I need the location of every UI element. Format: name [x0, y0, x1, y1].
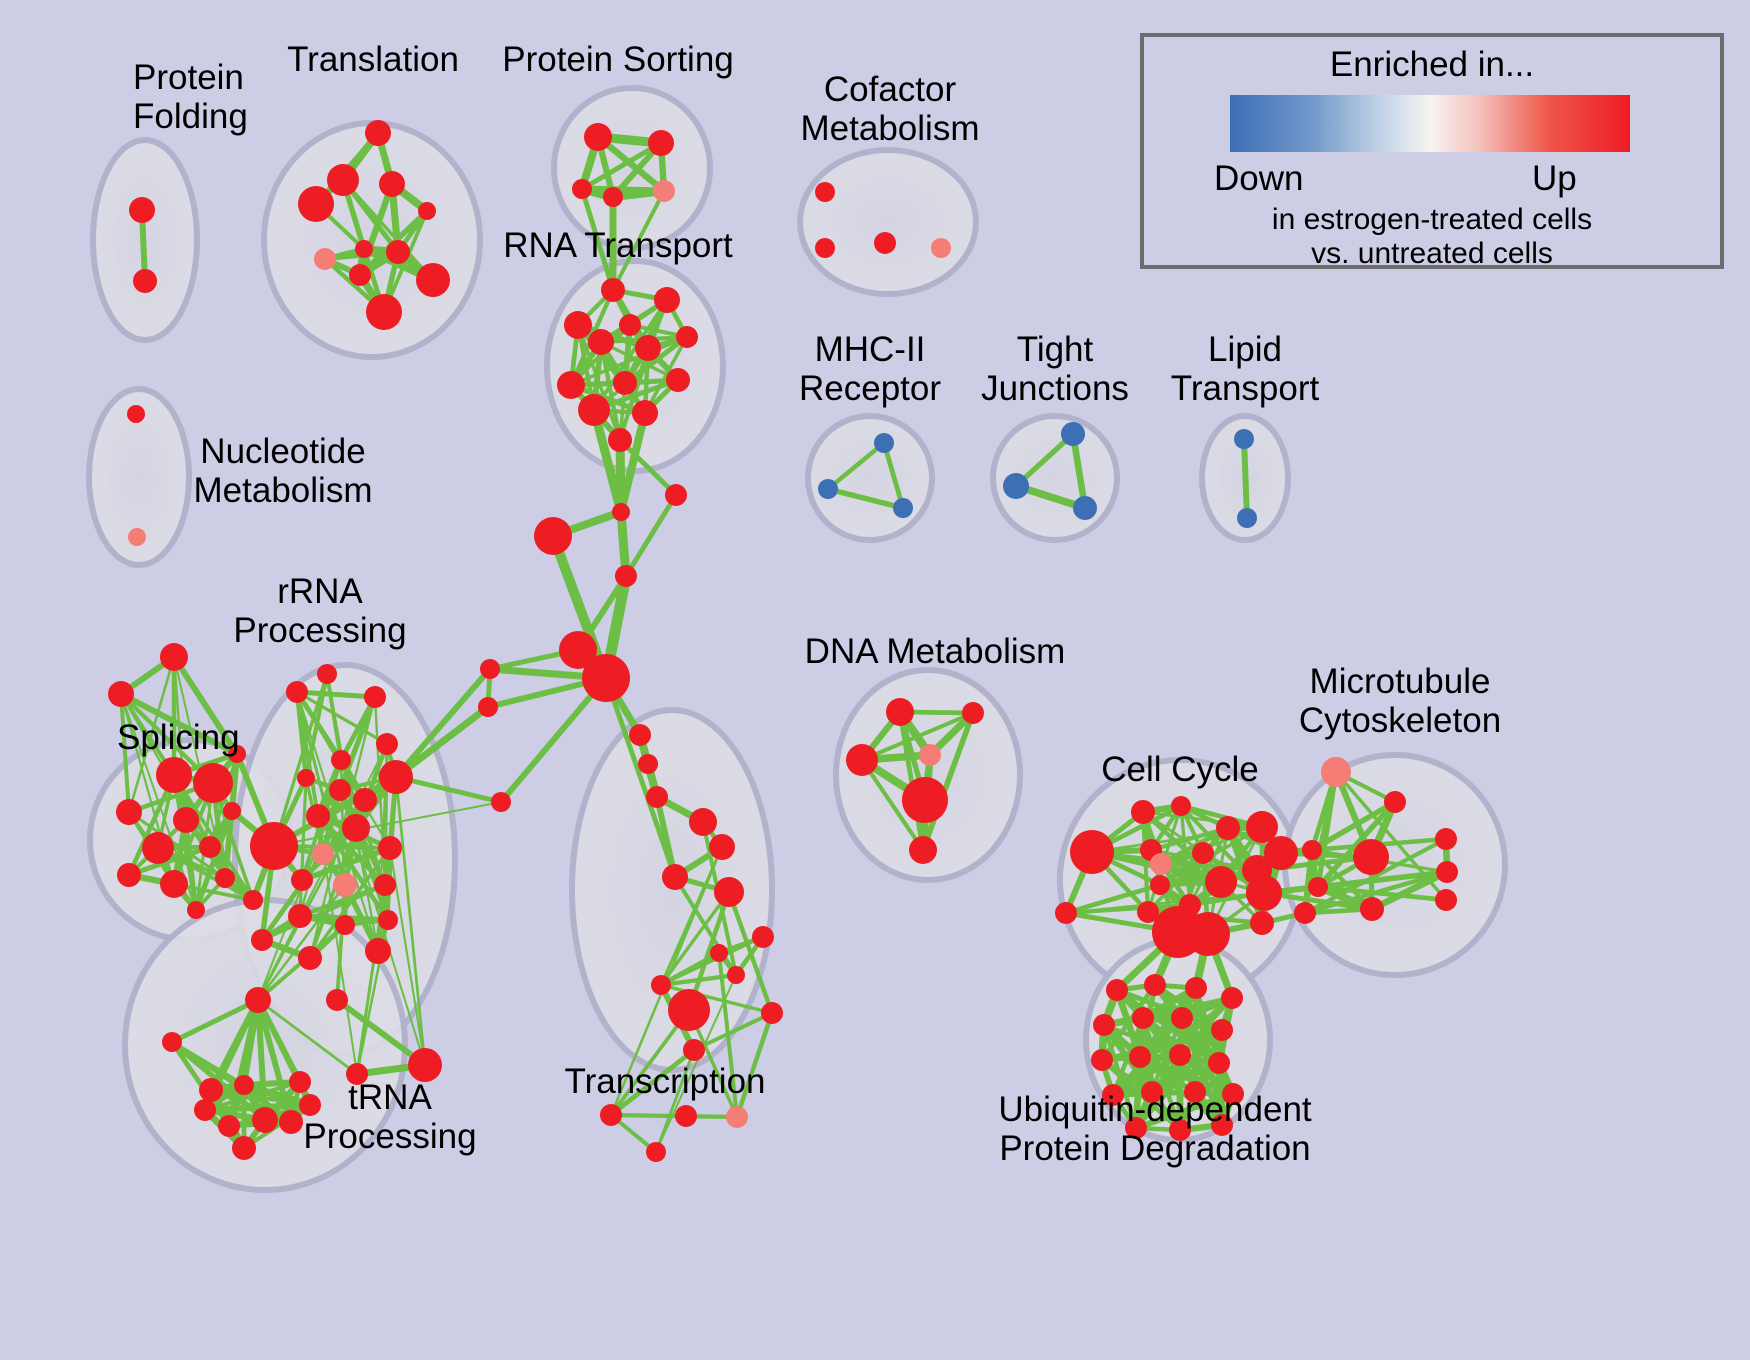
legend-low-label: Down	[1214, 159, 1303, 199]
gene-set-node-translation[interactable]	[366, 294, 402, 330]
gene-set-node-bridge[interactable]	[534, 517, 572, 555]
gene-set-node-splicing[interactable]	[173, 807, 199, 833]
gene-set-node-translation[interactable]	[298, 186, 334, 222]
cluster-label-ubiquitin-degradation: Ubiquitin-dependentProtein Degradation	[998, 1090, 1311, 1168]
gene-set-node-rrna-processing[interactable]	[250, 822, 298, 870]
gene-set-node-microtubule-cytoskeleton[interactable]	[1321, 757, 1351, 787]
gene-set-node-rrna-processing[interactable]	[329, 779, 351, 801]
gene-set-node-rrna-processing[interactable]	[317, 664, 337, 684]
gene-set-node-rna-transport[interactable]	[578, 394, 610, 426]
gene-set-node-microtubule-cytoskeleton[interactable]	[1302, 840, 1322, 860]
cluster-label-cofactor-metabolism: CofactorMetabolism	[801, 70, 980, 148]
gene-set-node-rrna-processing[interactable]	[326, 989, 348, 1011]
gene-set-node-mhc-ii-receptor[interactable]	[874, 433, 894, 453]
gene-set-node-protein-sorting[interactable]	[572, 179, 592, 199]
gene-set-node-ubiquitin-degradation[interactable]	[1169, 1044, 1191, 1066]
gene-set-node-bridge[interactable]	[615, 565, 637, 587]
gene-set-node-ubiquitin-degradation[interactable]	[1208, 1052, 1230, 1074]
gene-set-node-ubiquitin-degradation[interactable]	[1106, 979, 1128, 1001]
gene-set-node-cell-cycle[interactable]	[1192, 842, 1214, 864]
gene-set-node-protein-sorting[interactable]	[584, 123, 612, 151]
gene-set-node-translation[interactable]	[314, 248, 336, 270]
cluster-label-line: Ubiquitin-dependent	[998, 1090, 1311, 1129]
legend-subtitle-line1: in estrogen-treated cells	[1144, 203, 1720, 237]
gene-set-node-ubiquitin-degradation[interactable]	[1171, 1007, 1193, 1029]
gene-set-node-translation[interactable]	[386, 240, 410, 264]
cluster-label-line: Metabolism	[801, 109, 980, 148]
gene-set-node-transcription[interactable]	[714, 877, 744, 907]
cluster-edge-lipid-transport	[1244, 439, 1247, 518]
cluster-label-protein-folding: ProteinFolding	[133, 58, 248, 136]
gene-set-node-splicing[interactable]	[116, 799, 142, 825]
cluster-label-line: rRNA	[233, 572, 406, 611]
gene-set-node-dna-metabolism[interactable]	[886, 698, 914, 726]
gene-set-node-mhc-ii-receptor[interactable]	[893, 498, 913, 518]
gene-set-node-cell-cycle[interactable]	[1150, 875, 1170, 895]
cluster-label-nucleotide-metabolism: NucleotideMetabolism	[194, 432, 373, 510]
gene-set-node-bridge[interactable]	[491, 792, 511, 812]
gene-set-node-rna-transport[interactable]	[619, 314, 641, 336]
gene-set-node-rrna-processing[interactable]	[379, 760, 413, 794]
cluster-label-line: Translation	[287, 40, 459, 79]
gene-set-node-trna-processing[interactable]	[279, 1110, 303, 1134]
cluster-edge-transcription	[611, 1115, 737, 1117]
gene-set-node-translation[interactable]	[418, 202, 436, 220]
gene-set-node-transcription[interactable]	[662, 864, 688, 890]
cluster-label-lipid-transport: LipidTransport	[1171, 330, 1319, 408]
gene-set-node-lipid-transport[interactable]	[1237, 508, 1257, 528]
gene-set-node-transcription[interactable]	[675, 1105, 697, 1127]
cluster-label-cell-cycle: Cell Cycle	[1101, 750, 1259, 789]
gene-set-node-rrna-processing[interactable]	[331, 750, 351, 770]
gene-set-node-bridge[interactable]	[612, 503, 630, 521]
gene-set-node-rrna-processing[interactable]	[298, 946, 322, 970]
gene-set-node-ubiquitin-degradation[interactable]	[1185, 977, 1207, 999]
gene-set-node-microtubule-cytoskeleton[interactable]	[1353, 839, 1389, 875]
legend-high-label: Up	[1532, 159, 1577, 199]
gene-set-node-splicing[interactable]	[160, 870, 188, 898]
gene-set-node-protein-sorting[interactable]	[603, 187, 623, 207]
cluster-label-line: DNA Metabolism	[805, 632, 1066, 671]
gene-set-node-cell-cycle[interactable]	[1171, 796, 1191, 816]
gene-set-node-cofactor-metabolism[interactable]	[931, 238, 951, 258]
gene-set-node-cell-cycle[interactable]	[1246, 875, 1282, 911]
gene-set-node-ubiquitin-degradation[interactable]	[1221, 987, 1243, 1009]
gene-set-node-translation[interactable]	[365, 120, 391, 146]
gene-set-node-rna-transport[interactable]	[564, 311, 592, 339]
gene-set-node-protein-sorting[interactable]	[648, 130, 674, 156]
gene-set-node-tight-junctions[interactable]	[1061, 422, 1085, 446]
gene-set-node-rna-transport[interactable]	[676, 326, 698, 348]
gene-set-node-transcription[interactable]	[709, 834, 735, 860]
legend-box: Enriched in... Down Up in estrogen-treat…	[1140, 33, 1724, 269]
gene-set-node-rrna-processing[interactable]	[306, 804, 330, 828]
cluster-label-dna-metabolism: DNA Metabolism	[805, 632, 1066, 671]
enrichment-map-figure: ProteinFoldingTranslationProtein Sorting…	[0, 0, 1750, 1360]
cluster-ellipse-mhc-ii-receptor	[808, 416, 932, 540]
cluster-ellipse-cofactor-metabolism	[800, 150, 976, 294]
gene-set-node-transcription[interactable]	[651, 975, 671, 995]
cluster-label-line: RNA Transport	[503, 226, 733, 265]
gene-set-node-rna-transport[interactable]	[666, 368, 690, 392]
gene-set-node-cell-cycle[interactable]	[1070, 830, 1114, 874]
cluster-label-transcription: Transcription	[565, 1062, 766, 1101]
gene-set-node-bridge[interactable]	[478, 697, 498, 717]
gene-set-node-rrna-processing[interactable]	[335, 915, 355, 935]
gene-set-node-splicing[interactable]	[117, 863, 141, 887]
gene-set-node-rrna-processing[interactable]	[297, 769, 315, 787]
cluster-label-line: Protein	[133, 58, 248, 97]
cluster-label-line: Cytoskeleton	[1299, 701, 1501, 740]
cluster-label-protein-sorting: Protein Sorting	[502, 40, 734, 79]
gene-set-node-ubiquitin-degradation[interactable]	[1129, 1046, 1151, 1068]
gene-set-node-rna-transport[interactable]	[608, 428, 632, 452]
cluster-label-line: MHC-II	[799, 330, 941, 369]
gene-set-node-transcription[interactable]	[752, 926, 774, 948]
cluster-label-line: Protein Degradation	[998, 1129, 1311, 1168]
gene-set-node-bridge[interactable]	[629, 724, 651, 746]
gene-set-node-transcription[interactable]	[689, 808, 717, 836]
gene-set-node-protein-sorting[interactable]	[653, 180, 675, 202]
gene-set-node-trna-processing[interactable]	[234, 1075, 254, 1095]
gene-set-node-cell-cycle[interactable]	[1216, 816, 1240, 840]
gene-set-node-trna-processing[interactable]	[252, 1107, 278, 1133]
gene-set-node-trna-processing[interactable]	[232, 1136, 256, 1160]
cluster-label-line: tRNA	[303, 1078, 476, 1117]
gene-set-node-cell-cycle[interactable]	[1186, 912, 1230, 956]
gene-set-node-microtubule-cytoskeleton[interactable]	[1294, 902, 1316, 924]
gene-set-node-transcription[interactable]	[600, 1104, 622, 1126]
legend-subtitle-line2: vs. untreated cells	[1144, 237, 1720, 271]
cluster-label-line: Processing	[303, 1117, 476, 1156]
gene-set-node-mhc-ii-receptor[interactable]	[818, 479, 838, 499]
gene-set-node-dna-metabolism[interactable]	[962, 702, 984, 724]
gene-set-node-cell-cycle[interactable]	[1205, 866, 1237, 898]
gene-set-node-cofactor-metabolism[interactable]	[874, 232, 896, 254]
gene-set-node-rna-transport[interactable]	[588, 329, 614, 355]
gene-set-node-rrna-processing[interactable]	[286, 681, 308, 703]
gene-set-node-microtubule-cytoskeleton[interactable]	[1436, 861, 1458, 883]
gene-set-node-translation[interactable]	[379, 171, 405, 197]
cluster-label-line: Transport	[1171, 369, 1319, 408]
gene-set-node-rrna-processing[interactable]	[353, 788, 377, 812]
gene-set-node-microtubule-cytoskeleton[interactable]	[1435, 828, 1457, 850]
gene-set-node-bridge[interactable]	[665, 484, 687, 506]
gene-set-node-microtubule-cytoskeleton[interactable]	[1435, 889, 1457, 911]
gene-set-node-rna-transport[interactable]	[632, 400, 658, 426]
gene-set-node-rrna-processing[interactable]	[376, 733, 398, 755]
gene-set-node-rna-transport[interactable]	[601, 278, 625, 302]
cluster-label-line: Metabolism	[194, 471, 373, 510]
cluster-label-line: Transcription	[565, 1062, 766, 1101]
cluster-label-translation: Translation	[287, 40, 459, 79]
cluster-label-line: Junctions	[981, 369, 1129, 408]
gene-set-node-bridge[interactable]	[582, 654, 630, 702]
gene-set-node-splicing[interactable]	[142, 832, 174, 864]
cluster-label-tight-junctions: TightJunctions	[981, 330, 1129, 408]
gene-set-node-rrna-processing[interactable]	[378, 836, 402, 860]
gene-set-node-transcription[interactable]	[710, 944, 728, 962]
legend-color-gradient-bar	[1230, 95, 1630, 152]
gene-set-node-rrna-processing[interactable]	[245, 987, 271, 1013]
gene-set-node-cofactor-metabolism[interactable]	[815, 182, 835, 202]
gene-set-node-dna-metabolism[interactable]	[902, 777, 948, 823]
gene-set-node-splicing[interactable]	[187, 901, 205, 919]
gene-set-node-bridge[interactable]	[638, 754, 658, 774]
gene-set-node-rrna-processing[interactable]	[291, 869, 313, 891]
gene-set-node-microtubule-cytoskeleton[interactable]	[1308, 877, 1328, 897]
gene-set-node-trna-processing[interactable]	[162, 1032, 182, 1052]
gene-set-node-ubiquitin-degradation[interactable]	[1132, 1007, 1154, 1029]
gene-set-node-splicing[interactable]	[199, 836, 221, 858]
gene-set-node-cell-cycle[interactable]	[1150, 853, 1172, 875]
gene-set-node-rrna-processing[interactable]	[378, 910, 398, 930]
gene-set-node-transcription[interactable]	[726, 1106, 748, 1128]
gene-set-node-splicing[interactable]	[223, 802, 241, 820]
gene-set-node-tight-junctions[interactable]	[1003, 473, 1029, 499]
cluster-label-microtubule-cytoskeleton: MicrotubuleCytoskeleton	[1299, 662, 1501, 740]
gene-set-node-splicing[interactable]	[215, 868, 235, 888]
gene-set-node-rrna-processing[interactable]	[364, 686, 386, 708]
gene-set-node-bridge[interactable]	[646, 786, 668, 808]
cluster-label-line: Microtubule	[1299, 662, 1501, 701]
gene-set-node-splicing[interactable]	[156, 757, 192, 793]
gene-set-node-cell-cycle[interactable]	[1250, 911, 1274, 935]
gene-set-node-bridge[interactable]	[480, 659, 500, 679]
gene-set-node-rrna-processing[interactable]	[288, 904, 312, 928]
cluster-label-line: Processing	[233, 611, 406, 650]
gene-set-node-transcription[interactable]	[761, 1002, 783, 1024]
cluster-label-line: Receptor	[799, 369, 941, 408]
gene-set-node-microtubule-cytoskeleton[interactable]	[1384, 791, 1406, 813]
cluster-label-line: Cell Cycle	[1101, 750, 1259, 789]
cross-cluster-edge	[626, 495, 676, 576]
gene-set-node-cell-cycle[interactable]	[1131, 800, 1155, 824]
gene-set-node-nucleotide-metabolism[interactable]	[128, 528, 146, 546]
gene-set-node-splicing[interactable]	[108, 681, 134, 707]
cluster-label-line: Tight	[981, 330, 1129, 369]
gene-set-node-splicing[interactable]	[243, 890, 263, 910]
gene-set-node-dna-metabolism[interactable]	[846, 744, 878, 776]
gene-set-node-rrna-processing[interactable]	[408, 1048, 442, 1082]
gene-set-node-tight-junctions[interactable]	[1073, 496, 1097, 520]
gene-set-node-ubiquitin-degradation[interactable]	[1091, 1049, 1113, 1071]
gene-set-node-transcription[interactable]	[668, 989, 710, 1031]
cluster-label-line: Splicing	[117, 718, 240, 757]
gene-set-node-translation[interactable]	[349, 264, 371, 286]
gene-set-node-lipid-transport[interactable]	[1234, 429, 1254, 449]
gene-set-node-rna-transport[interactable]	[635, 335, 661, 361]
legend-title: Enriched in...	[1144, 45, 1720, 85]
cluster-label-line: Folding	[133, 97, 248, 136]
cluster-label-line: Protein Sorting	[502, 40, 734, 79]
cluster-label-line: Nucleotide	[194, 432, 373, 471]
gene-set-node-rna-transport[interactable]	[654, 287, 680, 313]
gene-set-node-dna-metabolism[interactable]	[919, 744, 941, 766]
gene-set-node-microtubule-cytoskeleton[interactable]	[1360, 897, 1384, 921]
gene-set-node-translation[interactable]	[327, 164, 359, 196]
cluster-label-mhc-ii-receptor: MHC-IIReceptor	[799, 330, 941, 408]
gene-set-node-transcription[interactable]	[683, 1039, 705, 1061]
cluster-label-trna-processing: tRNAProcessing	[303, 1078, 476, 1156]
gene-set-node-rrna-processing[interactable]	[251, 929, 273, 951]
gene-set-node-trna-processing[interactable]	[194, 1099, 216, 1121]
gene-set-node-rrna-processing[interactable]	[342, 814, 370, 842]
gene-set-node-rrna-processing[interactable]	[365, 938, 391, 964]
cluster-label-line: Lipid	[1171, 330, 1319, 369]
gene-set-node-cell-cycle[interactable]	[1055, 902, 1077, 924]
gene-set-node-rna-transport[interactable]	[557, 371, 585, 399]
gene-set-node-ubiquitin-degradation[interactable]	[1093, 1014, 1115, 1036]
gene-set-node-translation[interactable]	[355, 240, 373, 258]
gene-set-node-transcription[interactable]	[646, 1142, 666, 1162]
cluster-label-line: Cofactor	[801, 70, 980, 109]
gene-set-node-dna-metabolism[interactable]	[909, 836, 937, 864]
gene-set-node-splicing[interactable]	[160, 643, 188, 671]
gene-set-node-rrna-processing[interactable]	[312, 843, 334, 865]
cluster-label-rrna-processing: rRNAProcessing	[233, 572, 406, 650]
gene-set-node-rna-transport[interactable]	[613, 371, 637, 395]
cluster-label-rna-transport: RNA Transport	[503, 226, 733, 265]
gene-set-node-transcription[interactable]	[727, 966, 745, 984]
gene-set-node-ubiquitin-degradation[interactable]	[1211, 1019, 1233, 1041]
gene-set-node-nucleotide-metabolism[interactable]	[127, 405, 145, 423]
gene-set-node-cofactor-metabolism[interactable]	[815, 238, 835, 258]
cluster-label-splicing: Splicing	[117, 718, 240, 757]
gene-set-node-translation[interactable]	[416, 263, 450, 297]
gene-set-node-rrna-processing[interactable]	[333, 873, 357, 897]
gene-set-node-protein-folding[interactable]	[133, 269, 157, 293]
gene-set-node-rrna-processing[interactable]	[374, 874, 396, 896]
gene-set-node-trna-processing[interactable]	[218, 1115, 240, 1137]
gene-set-node-splicing[interactable]	[193, 763, 233, 803]
gene-set-node-trna-processing[interactable]	[199, 1078, 223, 1102]
gene-set-node-ubiquitin-degradation[interactable]	[1144, 974, 1166, 996]
gene-set-node-protein-folding[interactable]	[129, 197, 155, 223]
